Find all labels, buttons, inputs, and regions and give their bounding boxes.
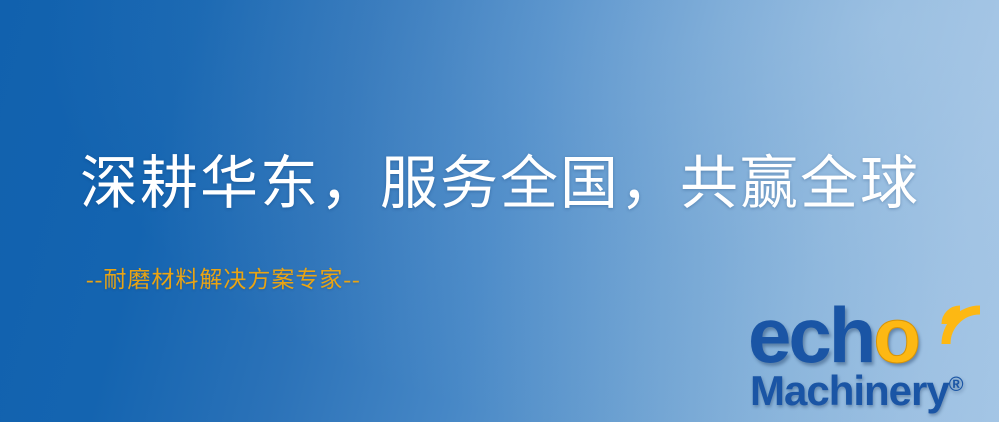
banner-headline: 深耕华东，服务全国，共赢全球: [80, 155, 920, 213]
hero-banner: 深耕华东，服务全国，共赢全球 --耐磨材料解决方案专家-- echo Machi…: [0, 0, 999, 422]
signal-waves-icon: [930, 294, 999, 364]
logo-brandline-text: Machinery: [750, 367, 949, 414]
banner-subtitle: --耐磨材料解决方案专家--: [86, 268, 361, 291]
logo-wordmark: echo: [748, 296, 918, 374]
logo-brandline: Machinery®: [750, 364, 964, 412]
registered-trademark-icon: ®: [949, 374, 964, 396]
company-logo[interactable]: echo Machinery®: [748, 296, 999, 422]
